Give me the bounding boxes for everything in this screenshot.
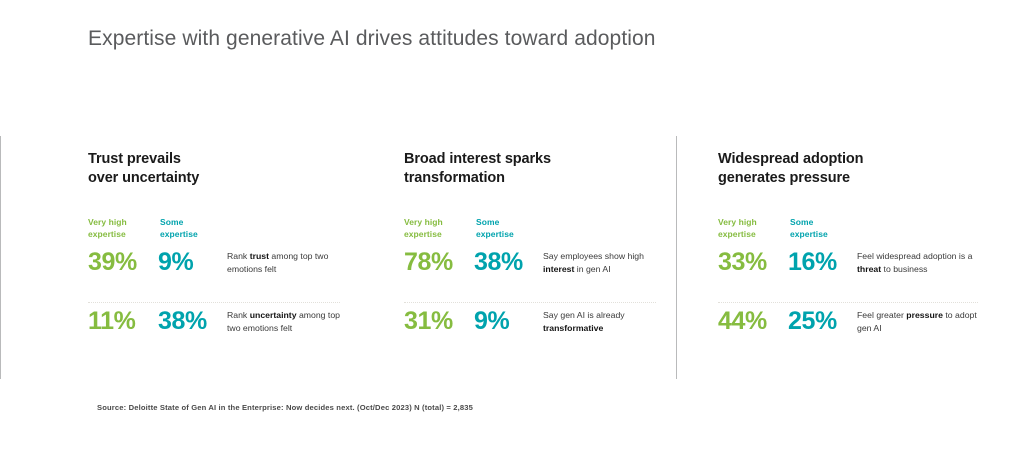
desc-pre: Feel widespread adoption is a bbox=[857, 251, 972, 261]
stat-very-high-value: 11% bbox=[88, 309, 135, 334]
legend-very-high-expertise: Very high expertise bbox=[88, 217, 127, 240]
desc-emphasis: threat bbox=[857, 264, 881, 274]
desc-pre: Feel greater bbox=[857, 310, 906, 320]
stat-row: 11% 38% Rank uncertainty among top two e… bbox=[88, 302, 350, 361]
desc-pre: Rank bbox=[227, 251, 250, 261]
stat-row: 44% 25% Feel greater pressure to adopt g… bbox=[718, 302, 988, 361]
expertise-legend: Very high expertise Some expertise bbox=[88, 217, 350, 243]
expertise-legend: Very high expertise Some expertise bbox=[718, 217, 988, 243]
stat-row: 31% 9% Say gen AI is already transformat… bbox=[404, 302, 666, 361]
expertise-legend: Very high expertise Some expertise bbox=[404, 217, 666, 243]
panel-heading: Widespread adoption generates pressure bbox=[718, 135, 988, 188]
stat-very-high-value: 78% bbox=[404, 250, 453, 275]
panel-trust-prevails: Trust prevails over uncertainty Very hig… bbox=[88, 135, 350, 380]
legend-some-expertise: Some expertise bbox=[476, 217, 514, 240]
legend-very-high-expertise: Very high expertise bbox=[404, 217, 443, 240]
stat-description: Feel greater pressure to adopt gen AI bbox=[857, 309, 983, 335]
desc-pre: Rank bbox=[227, 310, 250, 320]
stat-row: 33% 16% Feel widespread adoption is a th… bbox=[718, 243, 988, 302]
stat-description: Rank uncertainty among top two emotions … bbox=[227, 309, 345, 335]
panels-container: Trust prevails over uncertainty Very hig… bbox=[0, 135, 1025, 380]
desc-pre: Say employees show high bbox=[543, 251, 644, 261]
legend-very-high-expertise: Very high expertise bbox=[718, 217, 757, 240]
legend-some-expertise: Some expertise bbox=[790, 217, 828, 240]
stat-description: Rank trust among top two emotions felt bbox=[227, 250, 345, 276]
stat-row: 39% 9% Rank trust among top two emotions… bbox=[88, 243, 350, 302]
stat-some-value: 16% bbox=[788, 250, 837, 275]
column-divider-1 bbox=[0, 136, 1, 379]
page-title: Expertise with generative AI drives atti… bbox=[88, 27, 656, 51]
stat-description: Say employees show high interest in gen … bbox=[543, 250, 661, 276]
desc-pre: Say gen AI is already bbox=[543, 310, 625, 320]
source-note: Source: Deloitte State of Gen AI in the … bbox=[97, 403, 473, 412]
stat-very-high-value: 44% bbox=[718, 309, 767, 334]
legend-some-expertise: Some expertise bbox=[160, 217, 198, 240]
desc-emphasis: transformative bbox=[543, 323, 603, 333]
desc-emphasis: trust bbox=[250, 251, 269, 261]
panel-widespread-adoption: Widespread adoption generates pressure V… bbox=[718, 135, 988, 380]
stat-description: Feel widespread adoption is a threat to … bbox=[857, 250, 983, 276]
stat-some-value: 38% bbox=[158, 309, 207, 334]
stat-very-high-value: 33% bbox=[718, 250, 767, 275]
desc-emphasis: uncertainty bbox=[250, 310, 297, 320]
stat-row: 78% 38% Say employees show high interest… bbox=[404, 243, 666, 302]
panel-broad-interest: Broad interest sparks transformation Ver… bbox=[404, 135, 666, 380]
infographic-canvas: Expertise with generative AI drives atti… bbox=[0, 0, 1025, 457]
stat-some-value: 25% bbox=[788, 309, 837, 334]
panel-heading: Broad interest sparks transformation bbox=[404, 135, 666, 188]
panel-heading: Trust prevails over uncertainty bbox=[88, 135, 350, 188]
desc-emphasis: interest bbox=[543, 264, 574, 274]
stat-description: Say gen AI is already transformative bbox=[543, 309, 661, 335]
stat-some-value: 38% bbox=[474, 250, 523, 275]
desc-emphasis: pressure bbox=[906, 310, 943, 320]
stat-very-high-value: 31% bbox=[404, 309, 453, 334]
stat-very-high-value: 39% bbox=[88, 250, 137, 275]
desc-post: in gen AI bbox=[574, 264, 610, 274]
desc-post: to business bbox=[881, 264, 927, 274]
stat-some-value: 9% bbox=[158, 250, 193, 275]
column-divider-2 bbox=[676, 136, 677, 379]
stat-some-value: 9% bbox=[474, 309, 509, 334]
